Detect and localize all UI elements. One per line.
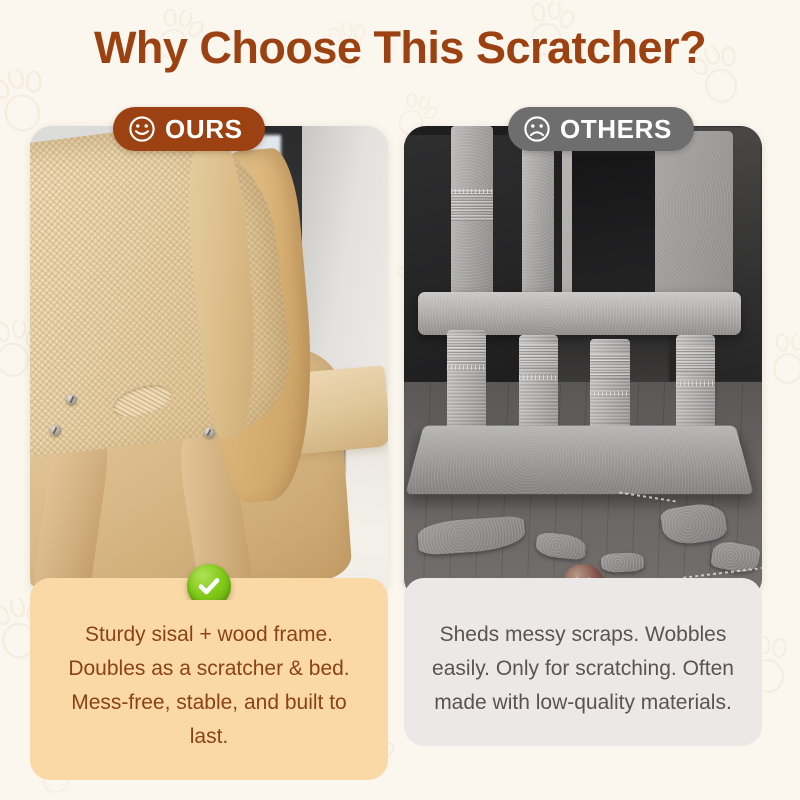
sad-face-icon <box>523 115 551 143</box>
badge-ours-label: OURS <box>165 116 243 142</box>
cat-tree-shelf <box>418 292 740 335</box>
green-check-icon <box>187 564 231 600</box>
caption-ours: Sturdy sisal + wood frame. Doubles as a … <box>30 578 388 780</box>
comparison-column-others: OTHERS Sheds messy scraps. Wobbles easil… <box>404 126 762 746</box>
cat-tree-upper-post <box>522 145 554 311</box>
carpet-scrap <box>600 551 644 572</box>
sisal-wrap-band <box>519 344 558 369</box>
cat-tree-upper-post <box>451 126 494 316</box>
badge-ours[interactable]: OURS <box>113 107 265 151</box>
sisal-wrap-band <box>590 354 629 378</box>
cat-tree-base <box>405 426 754 494</box>
frayed-sisal-fibers <box>451 189 494 194</box>
screw-icon <box>204 427 215 438</box>
ours-product-photo <box>30 126 388 600</box>
screw-icon <box>50 425 61 436</box>
badge-others[interactable]: OTHERS <box>508 107 694 151</box>
comparison-column-ours: OURS Sturdy sisal + wood frame. Doubles … <box>30 126 388 780</box>
cat-tree-condo-opening <box>572 135 654 296</box>
sisal-wrap-band <box>451 190 494 220</box>
screw-icon <box>66 394 77 405</box>
badge-others-label: OTHERS <box>560 116 672 142</box>
frayed-sisal-fibers <box>519 375 558 380</box>
frayed-sisal-fibers <box>676 381 715 386</box>
paw-print-icon <box>758 327 800 395</box>
smiley-face-icon <box>128 115 156 143</box>
sisal-wrap-band <box>676 347 715 372</box>
frayed-sisal-fibers <box>590 391 629 396</box>
frayed-sisal-fibers <box>447 365 486 370</box>
caption-others: Sheds messy scraps. Wobbles easily. Only… <box>404 578 762 746</box>
page-title: Why Choose This Scratcher? <box>0 20 800 76</box>
sisal-wrap-band <box>447 336 486 362</box>
others-product-photo <box>404 126 762 600</box>
